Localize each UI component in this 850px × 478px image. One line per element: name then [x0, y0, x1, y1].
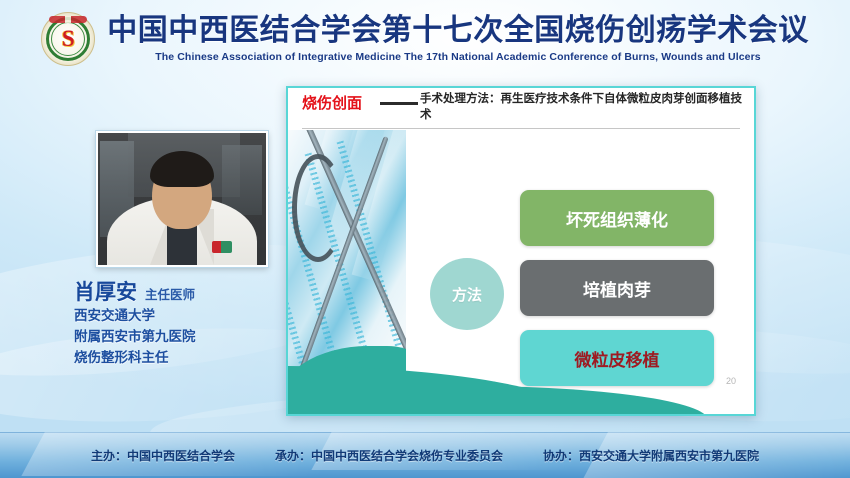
footer-undertaker: 承办：中国中西医结合学会烧伤专业委员会	[275, 447, 503, 464]
speaker-name: 肖厚安	[74, 276, 137, 306]
footer-coorganizer: 协办：西安交通大学附属西安市第九医院	[543, 447, 759, 464]
speaker-role: 主任医师	[145, 284, 195, 303]
conference-title-en: The Chinese Association of Integrative M…	[155, 51, 760, 63]
slide-title-rule	[302, 128, 740, 129]
diagram-method-circle: 方法	[430, 258, 504, 330]
conference-title-cn: 中国中西医结合学会第十七次全国烧伤创疡学术会议	[107, 15, 809, 47]
speaker-affiliation-1: 西安交通大学	[74, 306, 290, 327]
diagram-box-granulation-culture: 培植肉芽	[520, 260, 714, 316]
photo-instrument-hook	[292, 154, 344, 262]
speaker-affiliation-3: 烧伤整形科主任	[74, 348, 290, 369]
diagram-box-micro-skin-graft: 微粒皮移植	[520, 330, 714, 386]
footer-top-line	[0, 432, 850, 433]
webcast-stage: S 中国中西医结合学会第十七次全国烧伤创疡学术会议 The Chinese As…	[0, 0, 850, 478]
slide-header: 烧伤创面 手术处理方法：再生医疗技术条件下自体微粒皮肉芽创面移植技术	[288, 88, 754, 128]
speaker-info-panel: 肖厚安 主任医师 西安交通大学 附属西安市第九医院 烧伤整形科主任	[74, 276, 290, 369]
slide-kicker-label: 烧伤创面	[302, 92, 362, 113]
logo-top-banner	[49, 16, 87, 23]
slide-page-number: 20	[726, 376, 736, 386]
sponsor-footer: 主办：中国中西医结合学会 承办：中国中西医结合学会烧伤专业委员会 协办：西安交通…	[0, 432, 850, 478]
logo-s-glyph: S	[62, 27, 75, 50]
speaker-video-feed[interactable]	[96, 131, 268, 267]
footer-organizer: 主办：中国中西医结合学会	[91, 447, 235, 464]
method-diagram: 方法 坏死组织薄化 培植肉芽 微粒皮移植	[408, 134, 754, 414]
diagram-box-necrotic-thinning: 坏死组织薄化	[520, 190, 714, 246]
conference-header: S 中国中西医结合学会第十七次全国烧伤创疡学术会议 The Chinese As…	[0, 0, 850, 78]
presentation-slide[interactable]: 烧伤创面 手术处理方法：再生医疗技术条件下自体微粒皮肉芽创面移植技术 方法 坏死…	[286, 86, 756, 416]
slide-title: 手术处理方法：再生医疗技术条件下自体微粒皮肉芽创面移植技术	[420, 91, 746, 122]
slide-title-dash	[380, 102, 418, 105]
header-titles: 中国中西医结合学会第十七次全国烧伤创疡学术会议 The Chinese Asso…	[107, 15, 809, 63]
speaker-name-line: 肖厚安 主任医师	[74, 276, 290, 306]
speaker-badge	[212, 241, 232, 253]
speaker-affiliation-2: 附属西安市第九医院	[74, 327, 290, 348]
conference-logo-icon: S	[41, 12, 95, 66]
